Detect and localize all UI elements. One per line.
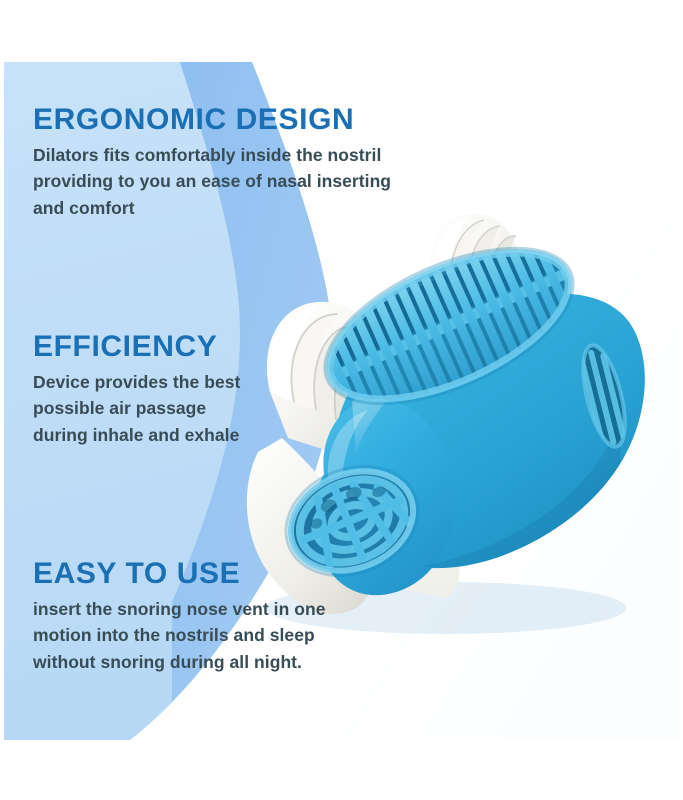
feature-body-line: Dilators fits comfortably inside the nos… bbox=[33, 142, 391, 169]
feature-body-line: without snoring during all night. bbox=[33, 649, 325, 676]
feature-body-line: and comfort bbox=[33, 195, 391, 222]
feature-body-line: Device provides the best bbox=[33, 369, 240, 396]
feature-body-line: motion into the nostrils and sleep bbox=[33, 622, 325, 649]
feature-body-line: possible air passage bbox=[33, 395, 240, 422]
feature-body-line: during inhale and exhale bbox=[33, 422, 240, 449]
product-infographic: ERGONOMIC DESIGN Dilators fits comfortab… bbox=[0, 0, 683, 800]
feature-body-line: insert the snoring nose vent in one bbox=[33, 596, 325, 623]
feature-body-easy-to-use: insert the snoring nose vent in one moti… bbox=[33, 596, 325, 676]
feature-body-ergonomic-design: Dilators fits comfortably inside the nos… bbox=[33, 142, 391, 222]
feature-easy-to-use: EASY TO USE insert the snoring nose vent… bbox=[33, 558, 325, 675]
feature-title-easy-to-use: EASY TO USE bbox=[33, 558, 325, 590]
feature-body-efficiency: Device provides the best possible air pa… bbox=[33, 369, 240, 449]
feature-title-efficiency: EFFICIENCY bbox=[33, 331, 240, 363]
feature-ergonomic-design: ERGONOMIC DESIGN Dilators fits comfortab… bbox=[33, 104, 391, 221]
feature-body-line: providing to you an ease of nasal insert… bbox=[33, 168, 391, 195]
feature-efficiency: EFFICIENCY Device provides the best poss… bbox=[33, 331, 240, 448]
feature-title-ergonomic-design: ERGONOMIC DESIGN bbox=[33, 104, 391, 136]
